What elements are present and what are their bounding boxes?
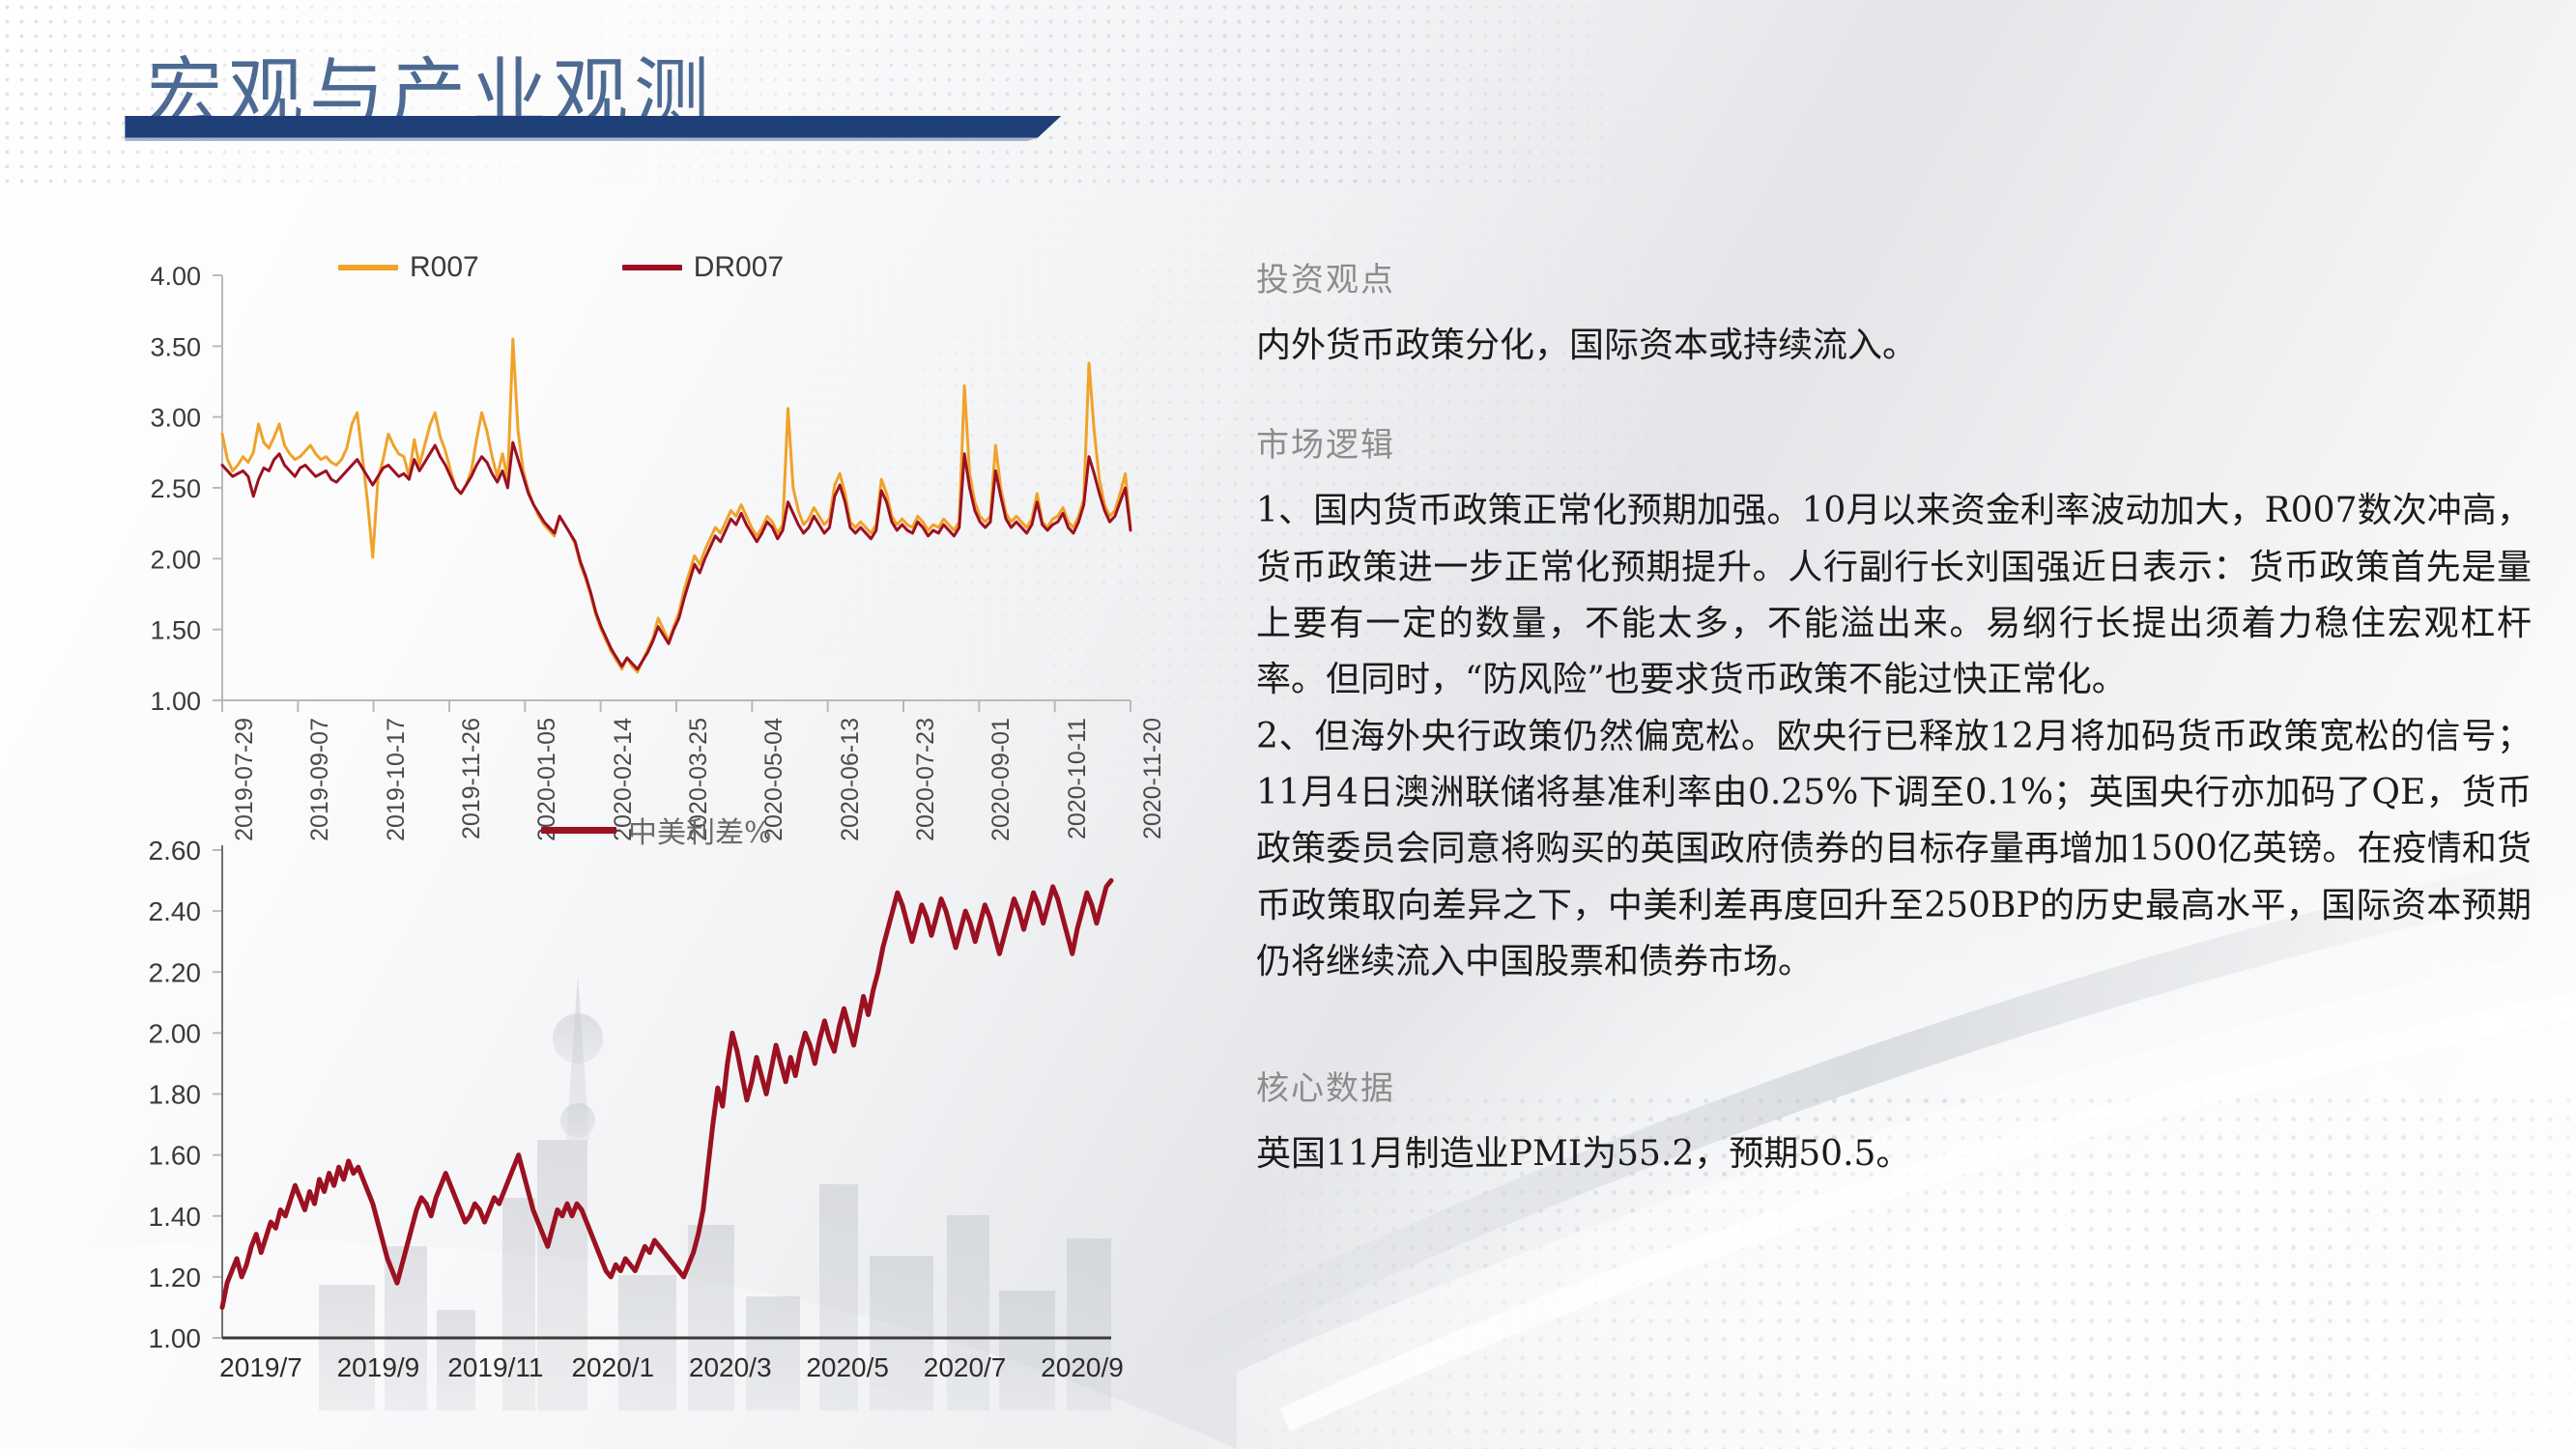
x-tick-label: 2020/7 (924, 1352, 1007, 1383)
svg-text:1.00: 1.00 (149, 1323, 202, 1353)
x-tick-label: 2020-09-01 (987, 718, 1016, 841)
x-tick-label: 2019-11-26 (458, 718, 486, 839)
svg-text:3.50: 3.50 (150, 332, 201, 361)
chart-china-us-spread: 1.001.201.401.601.802.002.202.402.60 中美利… (116, 826, 1237, 1406)
svg-text:1.00: 1.00 (150, 687, 201, 716)
svg-text:2.50: 2.50 (150, 474, 201, 503)
paragraph-market-logic-1: 1、国内货币政策正常化预期加强。10月以来资金利率波动加大，R007数次冲高，货… (1256, 483, 2532, 708)
commentary-panel: 投资观点 内外货币政策分化，国际资本或持续流入。 市场逻辑 1、国内货币政策正常… (1256, 253, 2532, 1182)
x-tick-label: 2020/9 (1041, 1352, 1124, 1383)
paragraph-core-data: 英国11月制造业PMI为55.2，预期50.5。 (1256, 1126, 2532, 1182)
paragraph-investment-view: 内外货币政策分化，国际资本或持续流入。 (1256, 318, 2532, 374)
svg-text:4.00: 4.00 (150, 262, 201, 291)
x-tick-label: 2019/7 (219, 1352, 302, 1383)
svg-text:1.40: 1.40 (149, 1202, 202, 1232)
x-tick-label: 2020-10-11 (1064, 718, 1092, 839)
x-tick-label: 2020-06-13 (837, 718, 865, 841)
svg-text:2.20: 2.20 (149, 957, 202, 987)
legend-item-spread: 中美利差% (541, 809, 772, 851)
legend-swatch-r007 (338, 265, 398, 270)
x-tick-label: 2019-07-29 (231, 718, 259, 841)
legend-repo-rates: R007 DR007 (338, 251, 784, 284)
slide-header: 宏观与产业观测 (0, 0, 2576, 145)
chart-repo-rates: 1.001.502.002.503.003.504.00 R007 DR007 … (116, 256, 1237, 836)
series-line-0 (222, 881, 1111, 1308)
svg-text:1.80: 1.80 (149, 1080, 202, 1110)
legend-label-spread: 中美利差% (628, 809, 772, 851)
chart-china-us-spread-svg: 1.001.201.401.601.802.002.202.402.60 (116, 826, 1237, 1406)
paragraph-market-logic-2: 2、但海外央行政策仍然偏宽松。欧央行已释放12月将加码货币政策宽松的信号；11月… (1256, 709, 2532, 991)
x-tick-label: 2019-10-17 (383, 718, 411, 841)
x-tick-label: 2019/11 (447, 1352, 543, 1383)
svg-text:2.00: 2.00 (149, 1018, 202, 1048)
legend-swatch-dr007 (622, 265, 682, 270)
slide-root: 宏观与产业观测 1.001.502.002.503.003.504.00 R00… (0, 0, 2576, 1449)
svg-text:2.40: 2.40 (149, 896, 202, 926)
svg-text:1.50: 1.50 (150, 616, 201, 645)
section-heading-market-logic: 市场逻辑 (1256, 418, 2532, 466)
x-tick-label: 2019-09-07 (306, 718, 334, 841)
series-line-1 (222, 442, 1131, 669)
x-tick-label: 2020/1 (571, 1352, 654, 1383)
x-tick-label: 2020-07-23 (912, 718, 940, 841)
svg-text:2.60: 2.60 (149, 836, 202, 866)
legend-china-us-spread: 中美利差% (541, 809, 772, 851)
svg-text:2.00: 2.00 (150, 545, 201, 574)
x-tick-label: 2020-11-20 (1139, 718, 1167, 839)
x-tick-label: 2020/3 (689, 1352, 772, 1383)
section-heading-investment-view: 投资观点 (1256, 253, 2532, 300)
section-heading-core-data: 核心数据 (1256, 1062, 2532, 1109)
legend-label-r007: R007 (410, 251, 479, 284)
svg-text:3.00: 3.00 (150, 404, 201, 433)
legend-item-r007: R007 (338, 251, 479, 284)
x-tick-label: 2019/9 (337, 1352, 420, 1383)
legend-item-dr007: DR007 (622, 251, 784, 284)
header-accent-bar (0, 116, 1875, 141)
legend-swatch-spread (541, 827, 616, 834)
legend-label-dr007: DR007 (694, 251, 784, 284)
svg-text:1.20: 1.20 (149, 1263, 202, 1293)
x-tick-label: 2020/5 (806, 1352, 889, 1383)
svg-text:1.60: 1.60 (149, 1141, 202, 1171)
